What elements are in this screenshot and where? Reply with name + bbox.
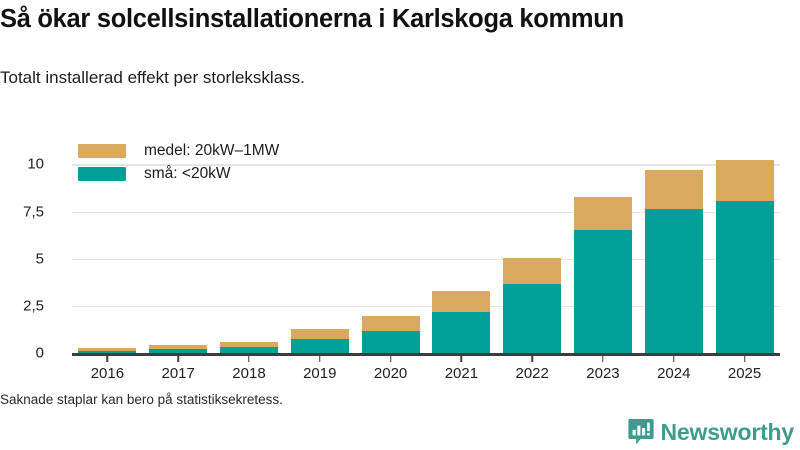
brand-name: Newsworthy [661,419,794,446]
bar-slot [355,155,426,353]
bar-segment-medel[interactable] [362,316,420,331]
legend-swatch [78,144,126,158]
bar-segment-sma[interactable] [291,339,349,353]
x-tick-mark [531,355,533,362]
bar-slot [72,155,143,353]
stacked-bar[interactable] [362,316,420,353]
x-tick-mark [602,355,604,362]
x-tick-slot: 2022 [497,353,568,389]
x-tick-slot: 2017 [143,353,214,389]
y-axis-tick-label: 10 [0,156,44,173]
x-tick-mark [744,355,746,362]
bar-slot [497,155,568,353]
x-tick-mark [319,355,321,362]
bar-slot [638,155,709,353]
bar-segment-medel[interactable] [716,160,774,201]
x-tick-mark [177,355,179,362]
x-axis-tick-label: 2025 [709,365,780,382]
legend-swatch [78,167,126,181]
x-tick-slot: 2021 [426,353,497,389]
bar-segment-medel[interactable] [503,258,561,284]
page-subtitle: Totalt installerad effekt per storlekskl… [0,68,305,88]
x-axis-tick-label: 2017 [143,365,214,382]
y-axis-tick-label: 2,5 [0,297,44,314]
x-axis-tick-label: 2021 [426,365,497,382]
bar-segment-sma[interactable] [362,331,420,353]
bar-segment-sma[interactable] [503,284,561,353]
bar-segment-sma[interactable] [645,209,703,353]
y-axis-tick-label: 7,5 [0,203,44,220]
x-axis: 2016201720182019202020212022202320242025 [72,353,780,389]
x-tick-mark [461,355,463,362]
plot-area: 02,557,510 [72,155,780,353]
x-axis-tick-label: 2018 [214,365,285,382]
y-axis-tick-label: 5 [0,250,44,267]
x-axis-tick-label: 2024 [638,365,709,382]
bar-group [72,155,780,353]
bar-segment-medel[interactable] [645,170,703,209]
x-axis-tick-label: 2023 [568,365,639,382]
x-tick-slot: 2025 [709,353,780,389]
stacked-bar[interactable] [645,170,703,353]
stacked-bar[interactable] [716,160,774,353]
bar-slot [214,155,285,353]
bar-segment-sma[interactable] [432,312,490,353]
stacked-bar[interactable] [291,329,349,353]
x-tick-slot: 2018 [214,353,285,389]
bar-slot [143,155,214,353]
bar-segment-medel[interactable] [291,329,349,338]
stacked-bar[interactable] [574,197,632,354]
x-tick-mark [673,355,675,362]
x-tick-slot: 2019 [284,353,355,389]
stacked-bar[interactable] [220,342,278,353]
newsworthy-logo[interactable]: Newsworthy [628,418,794,446]
bar-slot [709,155,780,353]
stacked-bar[interactable] [149,345,207,353]
stacked-bar[interactable] [503,258,561,353]
bar-segment-sma[interactable] [716,201,774,353]
x-tick-slot: 2024 [638,353,709,389]
x-axis-tick-label: 2016 [72,365,143,382]
bar-slot [284,155,355,353]
bar-segment-medel[interactable] [574,197,632,231]
bar-slot [426,155,497,353]
x-tick-mark [390,355,392,362]
x-tick-slot: 2020 [355,353,426,389]
x-tick-slot: 2016 [72,353,143,389]
legend-label: små: <20kW [144,165,231,183]
x-axis-tick-label: 2020 [355,365,426,382]
x-tick-mark [248,355,250,362]
y-axis-tick-label: 0 [0,345,44,362]
bar-slot [568,155,639,353]
footnote: Saknade staplar kan bero på statistiksek… [0,392,283,407]
bar-segment-medel[interactable] [432,291,490,313]
bar-segment-sma[interactable] [574,230,632,353]
x-tick-slot: 2023 [568,353,639,389]
x-axis-tick-label: 2019 [284,365,355,382]
legend-item[interactable]: små: <20kW [78,165,279,183]
bar-chart-bubble-icon [628,418,654,446]
page-title: Så ökar solcellsinstallationerna i Karls… [0,5,790,34]
chart-legend: medel: 20kW–1MWsmå: <20kW [78,142,279,183]
stacked-bar[interactable] [432,291,490,353]
legend-item[interactable]: medel: 20kW–1MW [78,142,279,160]
legend-label: medel: 20kW–1MW [144,142,279,160]
x-axis-tick-label: 2022 [497,365,568,382]
x-tick-mark [107,355,109,362]
chart-page: Så ökar solcellsinstallationerna i Karls… [0,0,800,450]
